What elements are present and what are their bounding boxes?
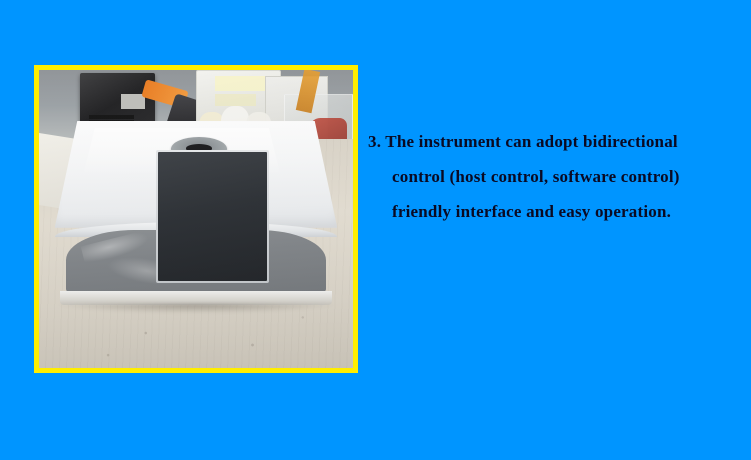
product-photo: DSC-100 差示扫描量热仪: [39, 70, 353, 368]
instrument-floor-shadow: [58, 304, 335, 313]
feature-text-line-1: 3. The instrument can adopt bidirectiona…: [368, 124, 751, 159]
instrument-body: DSC-100 差示扫描量热仪: [55, 121, 338, 306]
compressor-vent: [89, 115, 134, 118]
instrument-screen-bezel: [156, 150, 269, 283]
bin-label-tag: [215, 76, 265, 91]
product-photo-frame: DSC-100 差示扫描量热仪: [34, 65, 358, 373]
feature-text-line-2: control (host control, software control): [368, 159, 751, 194]
instrument-display: [158, 152, 267, 281]
feature-description: 3. The instrument can adopt bidirectiona…: [368, 124, 751, 229]
feature-text-line-3: friendly interface and easy operation.: [368, 194, 751, 229]
bin-label-tag-2: [215, 94, 256, 106]
